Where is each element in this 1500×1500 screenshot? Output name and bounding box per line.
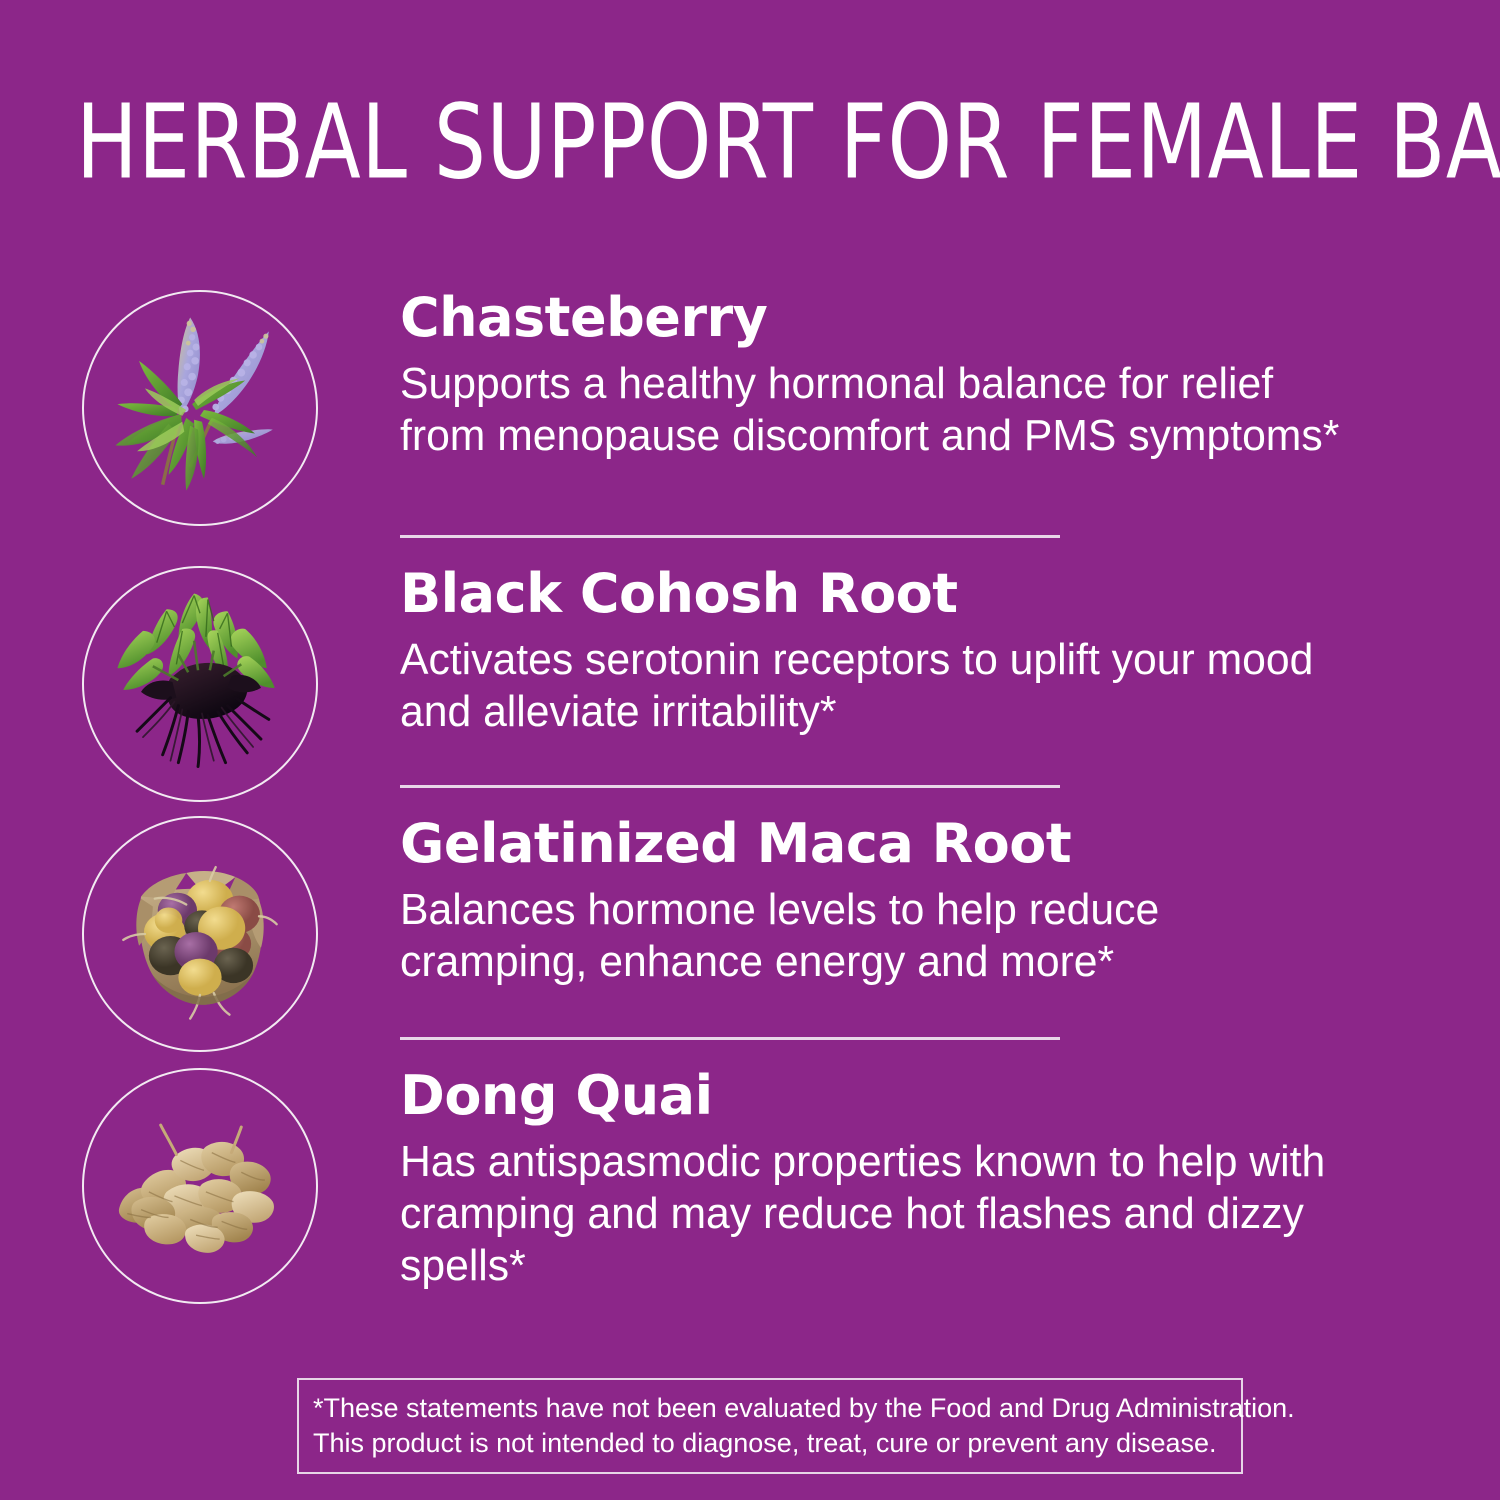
list-item: Chasteberry Supports a healthy hormonal … <box>0 272 1500 548</box>
list-item: Black Cohosh Root Activates serotonin re… <box>0 548 1500 798</box>
black-cohosh-root-photo <box>82 566 318 802</box>
section-divider <box>400 1037 1060 1040</box>
page-title: HERBAL SUPPORT FOR FEMALE BALANCE <box>76 84 1354 201</box>
herb-name: Black Cohosh Root <box>400 564 1380 624</box>
product-info-poster: HERBAL SUPPORT FOR FEMALE BALANCE <box>0 0 1500 1500</box>
section-divider <box>400 785 1060 788</box>
herb-description: Supports a healthy hormonal balance for … <box>400 358 1351 462</box>
herb-thumbnail-wrap <box>0 272 400 526</box>
black-cohosh-illustration <box>84 568 316 800</box>
chasteberry-illustration <box>84 292 316 524</box>
herb-text: Gelatinized Maca Root Balances hormone l… <box>400 798 1500 988</box>
herb-description: Activates serotonin receptors to uplift … <box>400 634 1351 738</box>
herb-text: Dong Quai Has antispasmodic properties k… <box>400 1050 1500 1292</box>
herb-name: Chasteberry <box>400 288 1380 348</box>
section-divider <box>400 535 1060 538</box>
herb-description: Balances hormone levels to help reduce c… <box>400 884 1351 988</box>
chasteberry-photo <box>82 290 318 526</box>
herb-name: Dong Quai <box>400 1066 1380 1126</box>
herb-list: Chasteberry Supports a healthy hormonal … <box>0 272 1500 1330</box>
herb-description: Has antispasmodic properties known to he… <box>400 1136 1351 1292</box>
dong-quai-illustration <box>84 1070 316 1302</box>
list-item: Dong Quai Has antispasmodic properties k… <box>0 1050 1500 1330</box>
herb-text: Chasteberry Supports a healthy hormonal … <box>400 272 1500 462</box>
herb-text: Black Cohosh Root Activates serotonin re… <box>400 548 1500 738</box>
dong-quai-root-photo <box>82 1068 318 1304</box>
maca-root-photo <box>82 816 318 1052</box>
herb-thumbnail-wrap <box>0 548 400 802</box>
maca-root-illustration <box>84 818 316 1050</box>
list-item: Gelatinized Maca Root Balances hormone l… <box>0 798 1500 1050</box>
herb-thumbnail-wrap <box>0 1050 400 1304</box>
fda-disclaimer-box: *These statements have not been evaluate… <box>297 1378 1243 1474</box>
disclaimer-line-2: This product is not intended to diagnose… <box>313 1426 1227 1461</box>
disclaimer-line-1: *These statements have not been evaluate… <box>313 1391 1227 1426</box>
herb-name: Gelatinized Maca Root <box>400 814 1380 874</box>
herb-thumbnail-wrap <box>0 798 400 1052</box>
